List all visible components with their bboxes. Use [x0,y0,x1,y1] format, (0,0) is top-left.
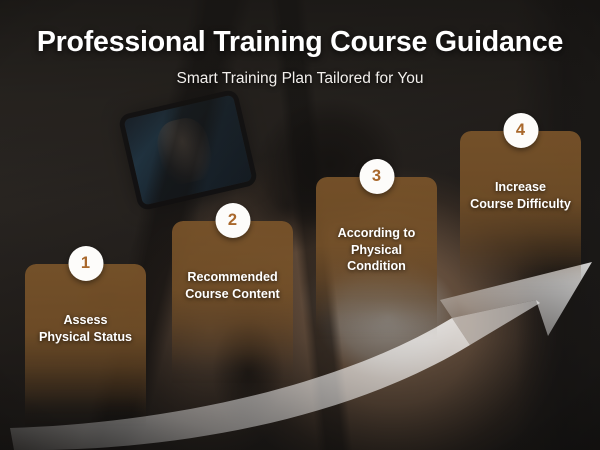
step-label-3-line1: According to [338,226,416,240]
step-card-4[interactable]: 4 Increase Course Difficulty [460,131,581,296]
step-card-body-2: Recommended Course Content [172,221,293,386]
step-badge-3: 3 [359,159,394,194]
header: Professional Training Course Guidance Sm… [0,26,600,88]
step-number-4: 4 [516,122,525,139]
step-card-body-4: Increase Course Difficulty [460,131,581,296]
step-card-3[interactable]: 3 According to Physical Condition [316,177,437,342]
step-label-4: Increase Course Difficulty [464,179,577,212]
step-label-2: Recommended Course Content [176,269,289,302]
step-label-2-line1: Recommended [187,270,277,284]
step-badge-1: 1 [68,246,103,281]
step-label-3: According to Physical Condition [320,225,433,275]
step-card-body-1: Assess Physical Status [25,264,146,429]
step-badge-4: 4 [503,113,538,148]
step-label-4-line2: Course Difficulty [470,197,571,211]
infographic-slide: Professional Training Course Guidance Sm… [0,0,600,450]
step-number-3: 3 [372,168,381,185]
step-label-1: Assess Physical Status [29,312,142,345]
page-title: Professional Training Course Guidance [0,26,600,59]
step-number-2: 2 [228,212,237,229]
step-card-2[interactable]: 2 Recommended Course Content [172,221,293,386]
step-label-2-line2: Course Content [185,287,279,301]
step-label-1-line2: Physical Status [39,330,132,344]
page-subtitle: Smart Training Plan Tailored for You [0,70,600,88]
step-label-4-line1: Increase [495,180,546,194]
step-card-1[interactable]: 1 Assess Physical Status [25,264,146,429]
step-badge-2: 2 [215,203,250,238]
step-label-3-line2: Physical Condition [347,243,406,274]
step-label-1-line1: Assess [63,313,107,327]
step-number-1: 1 [81,255,90,272]
step-card-body-3: According to Physical Condition [316,177,437,342]
